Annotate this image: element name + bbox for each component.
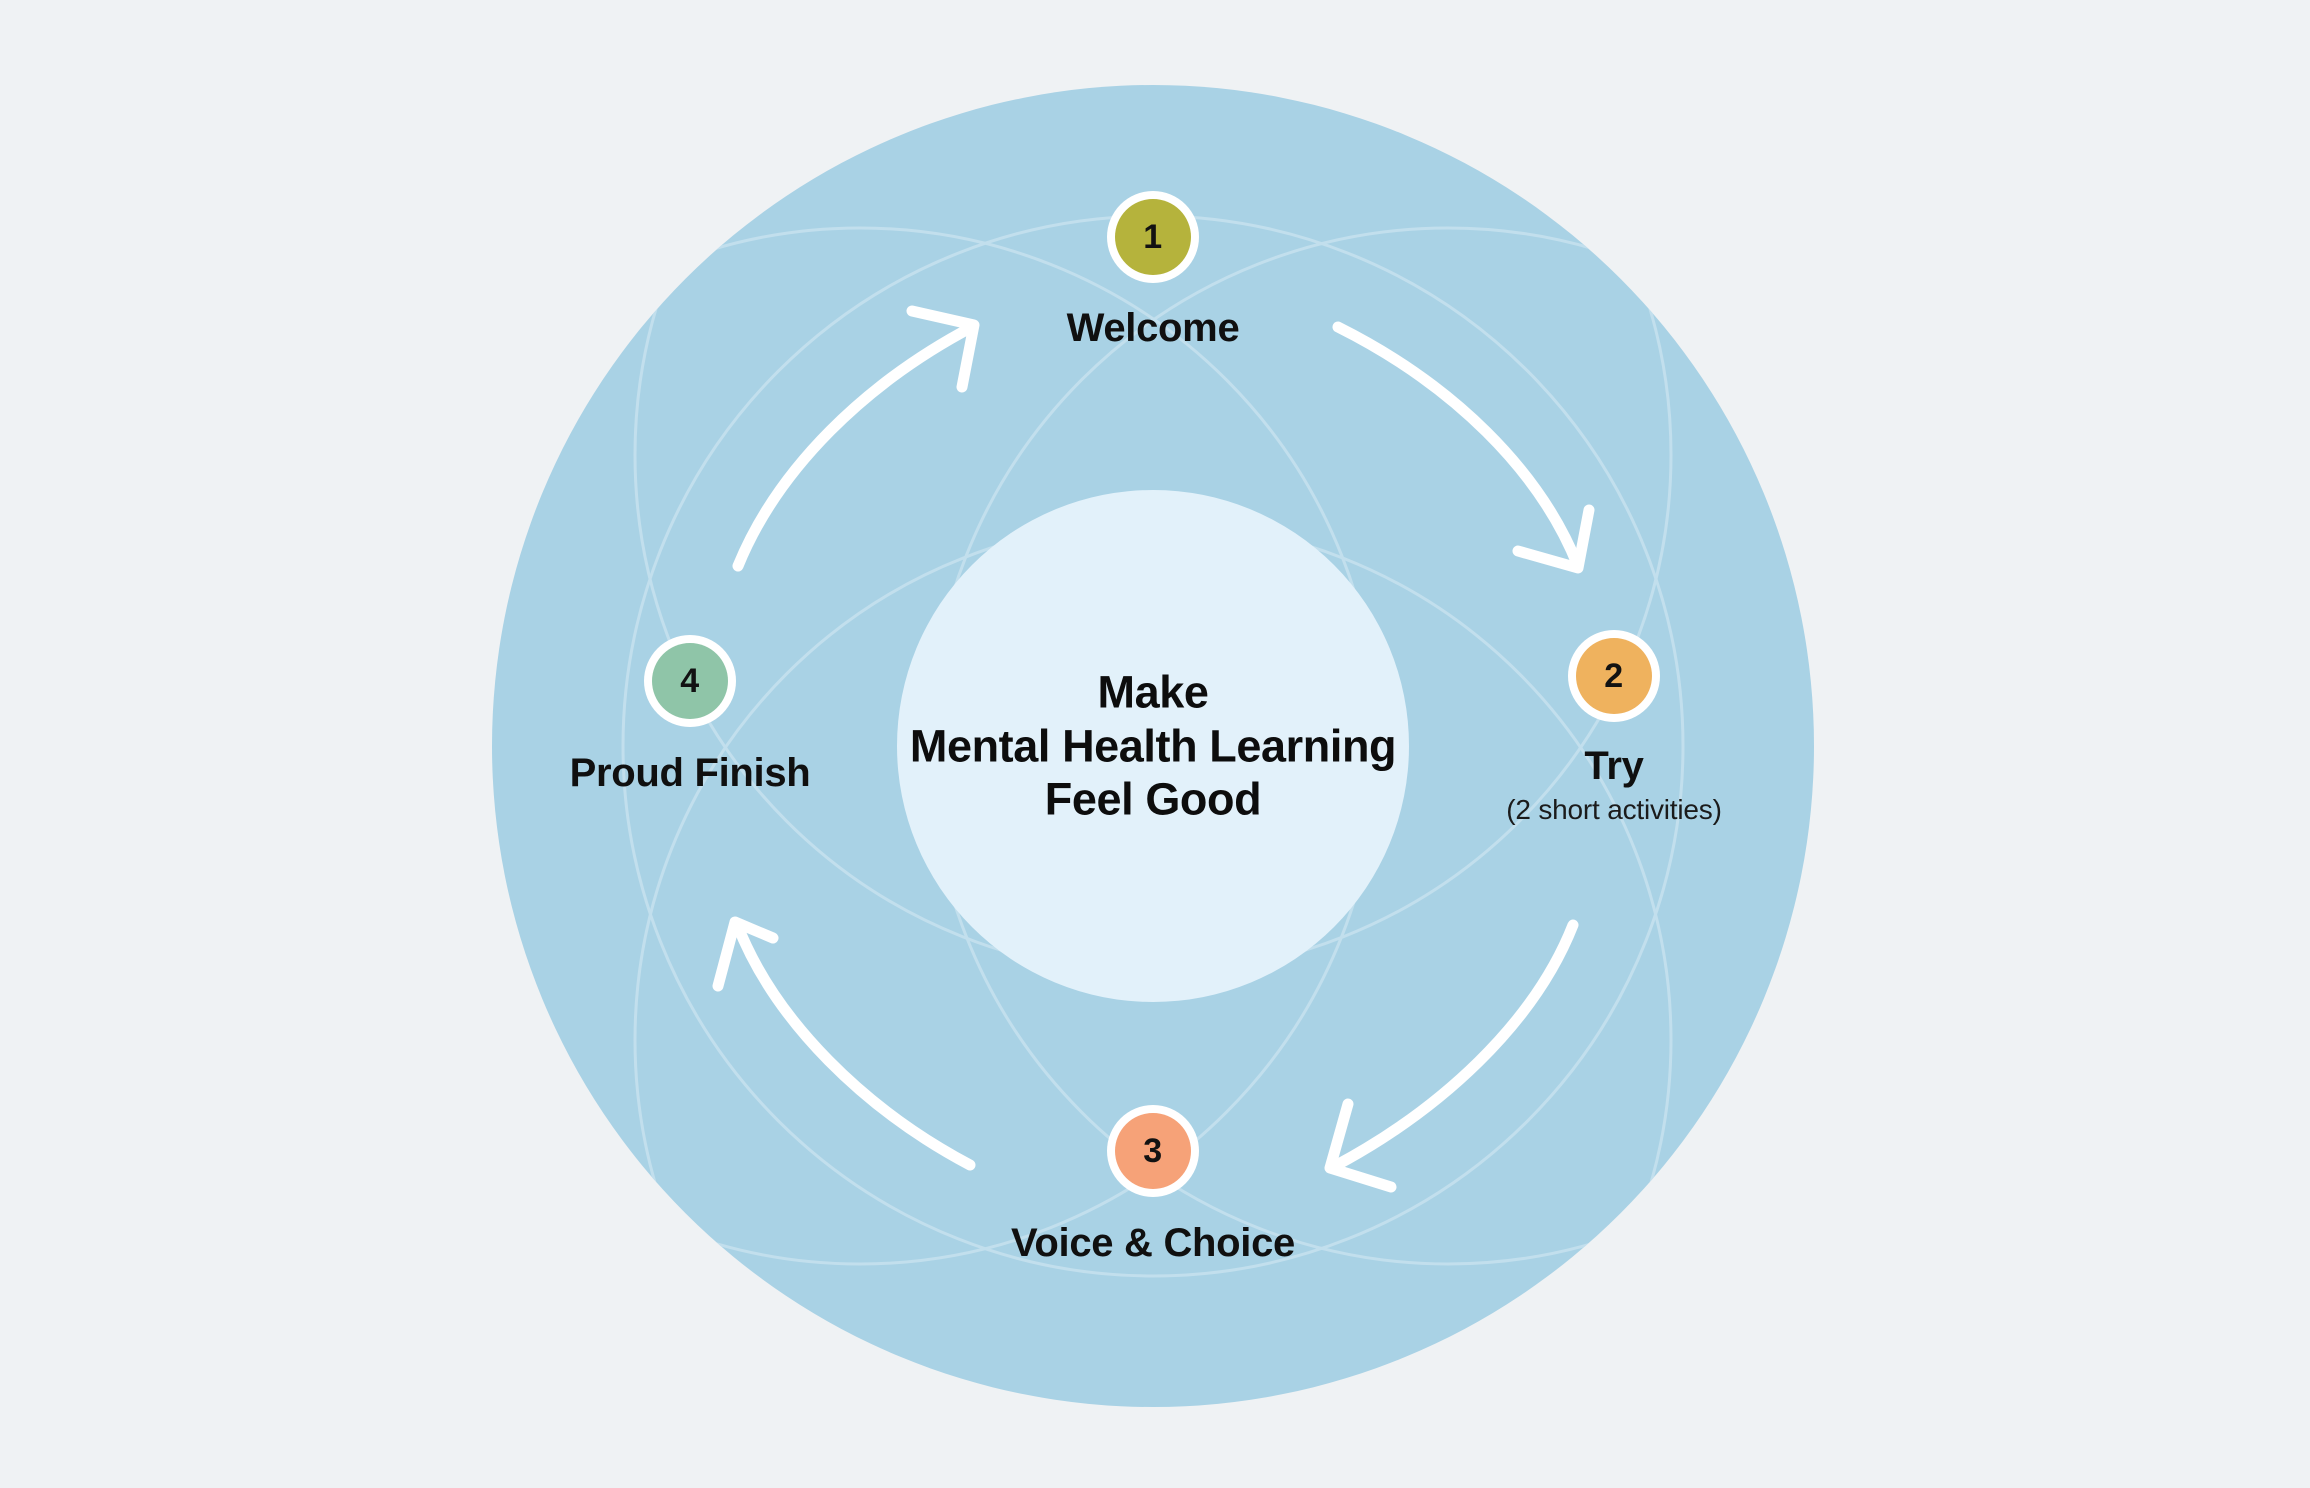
step-label-try: Try [1506, 745, 1721, 787]
center-statement-line-1: Make [883, 666, 1423, 720]
step-badge-2[interactable]: 2 [1568, 630, 1660, 722]
center-statement-line-2: Mental Health Learning [883, 719, 1423, 773]
diagram-canvas: Make Mental Health Learning Feel Good 1 … [0, 0, 2310, 1488]
step-badge-1[interactable]: 1 [1107, 191, 1199, 283]
step-badge-1-number: 1 [1115, 199, 1191, 275]
step-badge-4[interactable]: 4 [644, 635, 736, 727]
step-label-proud-finish: Proud Finish [570, 752, 811, 794]
step-badge-4-number: 4 [652, 643, 728, 719]
center-statement-line-3: Feel Good [883, 773, 1423, 827]
step-node-voice-choice[interactable]: Voice & Choice [1011, 1222, 1295, 1264]
center-statement: Make Mental Health Learning Feel Good [883, 666, 1423, 827]
step-label-voice-choice: Voice & Choice [1011, 1222, 1295, 1264]
step-node-try[interactable]: Try (2 short activities) [1506, 745, 1721, 826]
step-badge-3-number: 3 [1115, 1113, 1191, 1189]
step-badge-3[interactable]: 3 [1107, 1105, 1199, 1197]
step-label-welcome: Welcome [1067, 307, 1240, 349]
step-badge-2-number: 2 [1576, 638, 1652, 714]
step-node-welcome[interactable]: Welcome [1067, 307, 1240, 349]
step-sublabel-try: (2 short activities) [1506, 795, 1721, 826]
step-node-proud-finish[interactable]: Proud Finish [570, 752, 811, 794]
